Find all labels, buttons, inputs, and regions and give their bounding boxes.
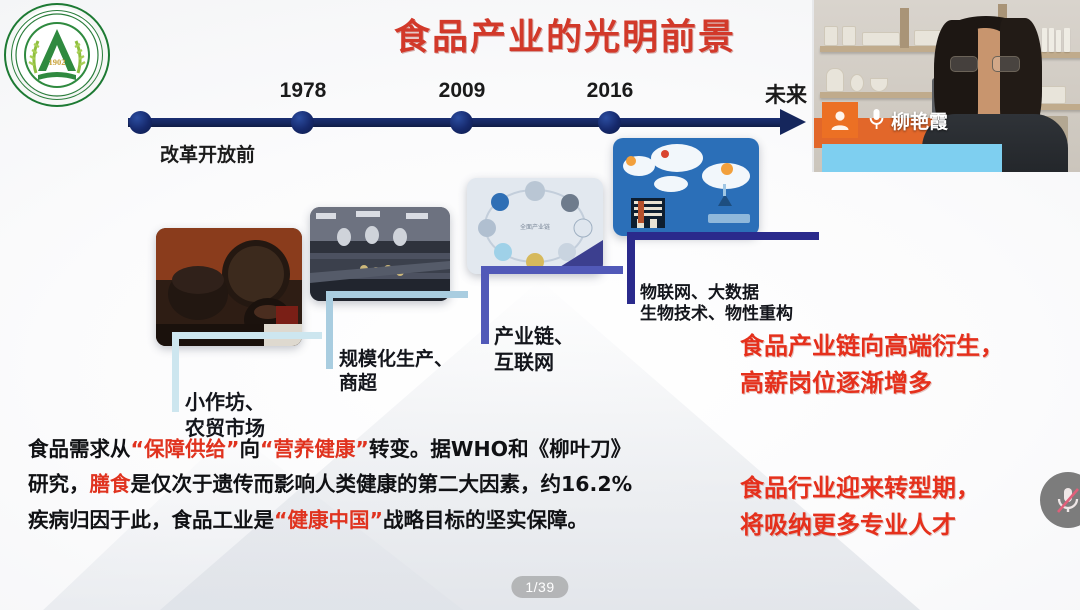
pottery-jars-image: [156, 228, 302, 346]
mic-indicator: [868, 108, 885, 132]
svg-text:全面产业链: 全面产业链: [520, 223, 550, 231]
paragraph-line-2: 研究，膳食是仅次于遗传而影响人类健康的第二大因素，约16.2%: [28, 467, 728, 502]
shelf-post-1: [900, 8, 909, 48]
shelf-box-1: [824, 26, 838, 46]
p1-highlight-2: “营养健康”: [260, 437, 369, 461]
p2-highlight: 膳食: [90, 472, 131, 496]
stage-label-2: 规模化生产、 商超: [326, 291, 476, 402]
callout-1: 食品产业链向高端衍生， 高薪岗位逐渐增多: [740, 328, 1004, 402]
participant-name-plate: 柳艳霞: [822, 102, 948, 138]
stage-label-2-text: 规模化生产、 商超: [339, 348, 453, 394]
p2b: 是仅次于遗传而影响人类健康的第二大因素，约16.2%: [131, 472, 633, 496]
timeline-dot-1: [291, 111, 314, 134]
stage-card-2: 规模化生产、 商超: [310, 207, 450, 301]
iot-photo: [613, 138, 759, 236]
p3-highlight: “健康中国”: [274, 508, 383, 532]
supply-chain-photo: 全面产业链: [467, 178, 603, 274]
stage-label-1: 小作坊、 农贸市场: [172, 332, 332, 448]
stage-card-4: 物联网、大数据 生物技术、物性重构: [613, 138, 759, 236]
timeline-dot-0: [129, 111, 152, 134]
paragraph-line-1: 食品需求从“保障供给”向“营养健康”转变。据WHO和《柳叶刀》: [28, 432, 728, 467]
workshop-photo: [156, 228, 302, 346]
video-scene: [814, 0, 1080, 172]
shelf-box-2: [842, 26, 856, 46]
glasses-lens-right: [992, 56, 1020, 72]
avatar: [822, 102, 858, 138]
paragraph-line-3: 疾病归因于此，食品工业是“健康中国”战略目标的坚实保障。: [28, 503, 728, 538]
timeline-year-1978: 1978: [280, 79, 327, 103]
timeline-year-2016: 2016: [587, 79, 634, 103]
timeline-dot-3: [598, 111, 621, 134]
timeline-year-2009: 2009: [439, 79, 486, 103]
timeline-caption-0: 改革开放前: [160, 140, 255, 167]
user-avatar-icon: [829, 109, 851, 131]
body-paragraph: 食品需求从“保障供给”向“营养健康”转变。据WHO和《柳叶刀》 研究，膳食是仅次…: [28, 432, 728, 538]
p1b: 向: [239, 437, 260, 461]
timeline: 1978 2009 2016 未来 改革开放前: [0, 85, 820, 145]
glasses-icon: [950, 56, 1020, 72]
vase-1: [826, 68, 844, 92]
page-indicator: 1/39: [511, 576, 568, 598]
factory-photo: [310, 207, 450, 301]
video-accent-bar: [822, 144, 1002, 172]
svg-text:1902: 1902: [49, 57, 66, 67]
p2a: 研究，: [28, 472, 90, 496]
stage-label-3: 产业链、 互联网: [481, 266, 631, 382]
p3a: 疾病归因于此，食品工业是: [28, 508, 274, 532]
callout-2: 食品行业迎来转型期， 将吸纳更多专业人才: [740, 470, 980, 544]
stage-card-3: 全面产业链 产业链、 互联网: [467, 178, 603, 274]
stage-card-1: 小作坊、 农贸市场: [156, 228, 302, 346]
slide-title: 食品产业的光明前景: [355, 8, 775, 60]
p1-highlight-1: “保障供给”: [131, 437, 240, 461]
supply-chain-diagram-image: 全面产业链: [467, 178, 603, 274]
vase-2: [850, 74, 864, 92]
p1c: 转变。据WHO和《柳叶刀》: [369, 437, 631, 461]
stage-label-4: 物联网、大数据 生物技术、物性重构: [627, 232, 827, 333]
production-line-image: [310, 207, 450, 301]
p3b: 战略目标的坚实保障。: [383, 508, 588, 532]
microphone-icon: [868, 108, 885, 132]
shelf-box-3: [862, 32, 900, 46]
timeline-arrow-icon: [780, 109, 806, 135]
timeline-dot-2: [450, 111, 473, 134]
participant-name: 柳艳霞: [891, 107, 948, 134]
timeline-end-label: 未来: [765, 79, 807, 109]
cloud-computing-image: [613, 138, 759, 236]
microphone-muted-icon: [1053, 484, 1080, 516]
glasses-lens-left: [950, 56, 978, 72]
stage-label-3-text: 产业链、 互联网: [494, 324, 574, 374]
p1a: 食品需求从: [28, 437, 131, 461]
participant-video-tile[interactable]: 柳艳霞: [812, 0, 1080, 172]
